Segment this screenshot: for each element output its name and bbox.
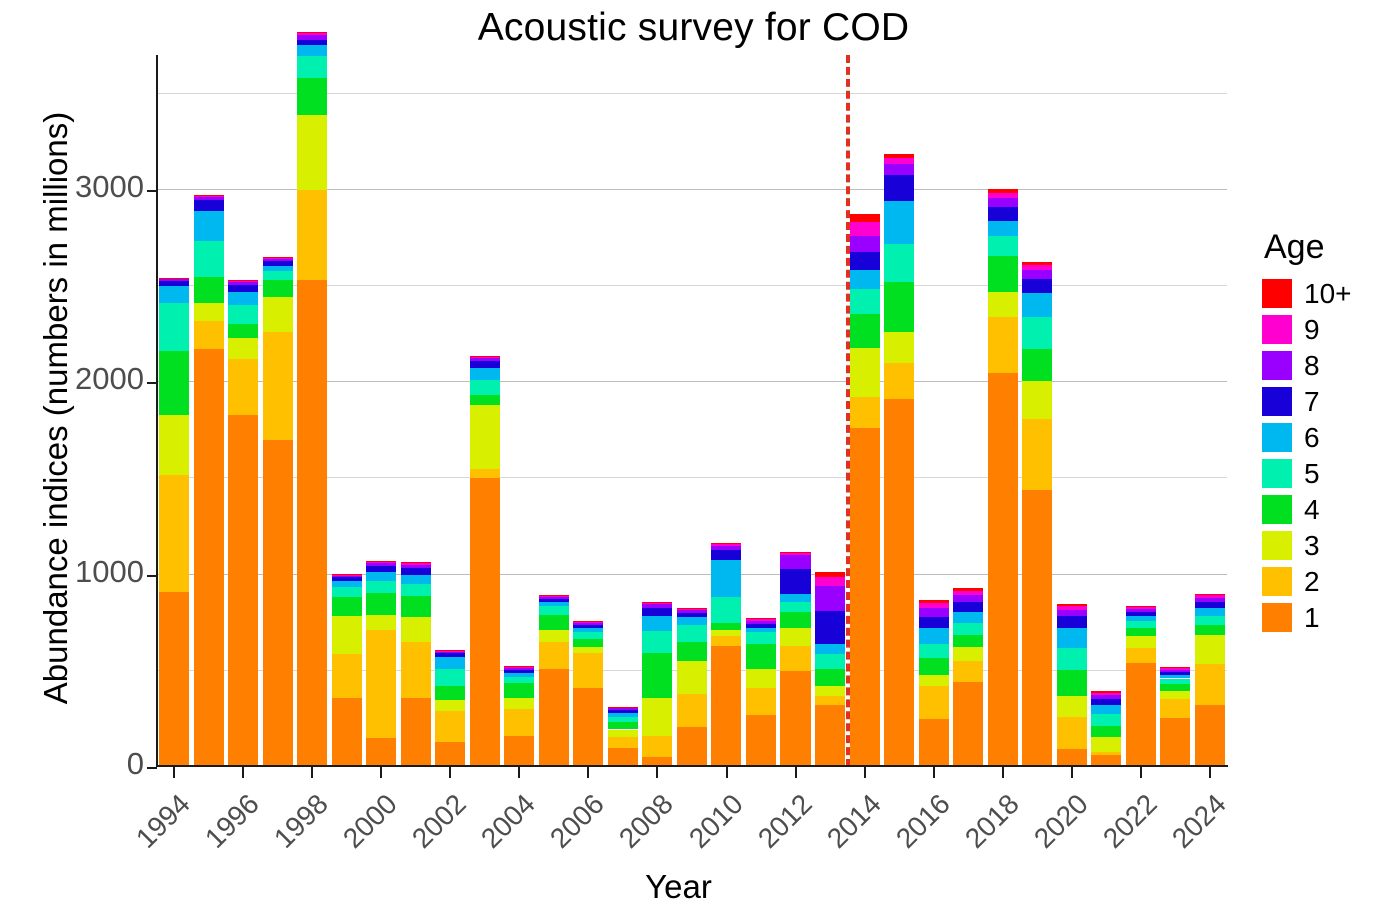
bar-segment-age-6 bbox=[884, 201, 914, 243]
bar-segment-age-8 bbox=[1195, 598, 1225, 602]
bar-segment-age-6 bbox=[919, 628, 949, 643]
bar-segment-age-7 bbox=[1195, 602, 1225, 609]
bar-segment-age-4 bbox=[228, 324, 258, 337]
bar-1997[interactable] bbox=[263, 257, 293, 767]
bar-segment-age-7 bbox=[263, 261, 293, 266]
bar-segment-age-1 bbox=[401, 698, 431, 767]
legend-item-label: 9 bbox=[1304, 316, 1320, 344]
bar-segment-age-3 bbox=[711, 630, 741, 636]
legend-item-label: 1 bbox=[1304, 604, 1320, 632]
bar-segment-age-6 bbox=[1195, 608, 1225, 616]
bar-segment-age-2 bbox=[1126, 648, 1156, 663]
bar-segment-age-3 bbox=[677, 661, 707, 694]
bar-segment-age-5 bbox=[953, 623, 983, 636]
bar-segment-age-9 bbox=[159, 278, 189, 279]
bar-segment-age-8 bbox=[711, 546, 741, 550]
bar-segment-age-9 bbox=[815, 577, 845, 587]
bar-segment-age-6 bbox=[332, 581, 362, 587]
bar-segment-age-2 bbox=[711, 636, 741, 646]
bar-segment-age-7 bbox=[539, 599, 569, 602]
bar-segment-age-10+ bbox=[504, 666, 534, 667]
bar-segment-age-10+ bbox=[988, 189, 1018, 193]
bar-2013[interactable] bbox=[815, 572, 845, 767]
bar-2009[interactable] bbox=[677, 608, 707, 767]
bar-segment-age-10+ bbox=[1091, 691, 1121, 693]
bar-2006[interactable] bbox=[573, 621, 603, 767]
bar-segment-age-4 bbox=[435, 686, 465, 699]
legend-item-age-3[interactable]: 3 bbox=[1262, 529, 1382, 562]
bar-segment-age-5 bbox=[919, 644, 949, 658]
bar-segment-age-2 bbox=[1057, 717, 1087, 749]
bar-segment-age-6 bbox=[435, 657, 465, 669]
bar-segment-age-6 bbox=[642, 616, 672, 631]
bar-segment-age-8 bbox=[815, 586, 845, 611]
bar-segment-age-10+ bbox=[401, 562, 431, 563]
bar-segment-age-6 bbox=[780, 594, 810, 603]
legend-item-label: 2 bbox=[1304, 568, 1320, 596]
legend-swatch-icon bbox=[1262, 351, 1292, 380]
bar-segment-age-4 bbox=[263, 280, 293, 297]
legend-title: Age bbox=[1264, 228, 1382, 267]
bar-segment-age-3 bbox=[1057, 696, 1087, 717]
bar-segment-age-9 bbox=[1195, 595, 1225, 597]
bar-segment-age-8 bbox=[988, 198, 1018, 207]
bar-segment-age-1 bbox=[228, 415, 258, 767]
bar-segment-age-9 bbox=[988, 193, 1018, 199]
x-tick-mark bbox=[173, 767, 175, 778]
x-tick-mark bbox=[933, 767, 935, 778]
bar-segment-age-7 bbox=[746, 624, 776, 628]
bar-segment-age-6 bbox=[573, 628, 603, 633]
bar-segment-age-7 bbox=[159, 281, 189, 286]
bar-segment-age-7 bbox=[435, 653, 465, 657]
bar-segment-age-10+ bbox=[642, 602, 672, 603]
bar-segment-age-1 bbox=[780, 671, 810, 767]
bar-2012[interactable] bbox=[780, 552, 810, 767]
bar-segment-age-7 bbox=[504, 670, 534, 673]
bar-segment-age-8 bbox=[953, 595, 983, 602]
bar-segment-age-2 bbox=[1091, 752, 1121, 756]
bar-segment-age-3 bbox=[850, 348, 880, 396]
bar-segment-age-4 bbox=[539, 615, 569, 630]
legend-swatch-icon bbox=[1262, 459, 1292, 488]
x-tick-mark bbox=[518, 767, 520, 778]
bar-segment-age-9 bbox=[1022, 265, 1052, 270]
bar-segment-age-5 bbox=[539, 606, 569, 615]
bar-2000[interactable] bbox=[366, 561, 396, 767]
bar-2022[interactable] bbox=[1126, 606, 1156, 767]
bar-2019[interactable] bbox=[1022, 262, 1052, 767]
y-axis-line bbox=[156, 55, 158, 767]
bar-segment-age-5 bbox=[677, 625, 707, 642]
bar-segment-age-9 bbox=[435, 651, 465, 652]
bar-segment-age-9 bbox=[677, 609, 707, 611]
bar-segment-age-4 bbox=[504, 683, 534, 697]
legend-item-age-9[interactable]: 9 bbox=[1262, 313, 1382, 346]
bar-segment-age-8 bbox=[194, 197, 224, 200]
bar-2011[interactable] bbox=[746, 618, 776, 767]
bar-segment-age-4 bbox=[1195, 625, 1225, 636]
bar-segment-age-10+ bbox=[1160, 667, 1190, 668]
bar-segment-age-6 bbox=[815, 644, 845, 655]
bar-segment-age-5 bbox=[504, 677, 534, 684]
bar-segment-age-8 bbox=[263, 259, 293, 261]
bar-segment-age-8 bbox=[401, 565, 431, 568]
bar-segment-age-2 bbox=[573, 653, 603, 688]
legend: Age 10+987654321 bbox=[1262, 228, 1382, 637]
x-tick-mark bbox=[449, 767, 451, 778]
bar-segment-age-7 bbox=[953, 602, 983, 613]
bar-2016[interactable] bbox=[919, 600, 949, 767]
bar-segment-age-7 bbox=[1091, 699, 1121, 706]
bar-segment-age-1 bbox=[1126, 663, 1156, 767]
bar-segment-age-4 bbox=[297, 78, 327, 115]
bar-segment-age-2 bbox=[194, 321, 224, 350]
bar-segment-age-2 bbox=[159, 475, 189, 592]
bar-segment-age-5 bbox=[642, 631, 672, 652]
bar-segment-age-3 bbox=[1022, 381, 1052, 419]
bar-segment-age-5 bbox=[1160, 679, 1190, 685]
bar-segment-age-5 bbox=[1091, 714, 1121, 726]
bar-segment-age-6 bbox=[228, 292, 258, 305]
bar-2017[interactable] bbox=[953, 588, 983, 767]
bar-segment-age-7 bbox=[988, 207, 1018, 220]
bar-segment-age-2 bbox=[988, 317, 1018, 373]
bar-segment-age-1 bbox=[539, 669, 569, 767]
legend-item-age-6[interactable]: 6 bbox=[1262, 421, 1382, 454]
bar-segment-age-7 bbox=[573, 625, 603, 628]
bar-segment-age-7 bbox=[1126, 612, 1156, 616]
y-tick-mark bbox=[147, 575, 157, 577]
bar-segment-age-6 bbox=[608, 713, 638, 717]
bar-segment-age-2 bbox=[401, 642, 431, 698]
legend-item-label: 10+ bbox=[1304, 280, 1352, 308]
bar-segment-age-1 bbox=[677, 727, 707, 767]
bar-segment-age-8 bbox=[1160, 670, 1190, 672]
bar-segment-age-4 bbox=[988, 256, 1018, 292]
legend-item-label: 6 bbox=[1304, 424, 1320, 452]
bar-segment-age-2 bbox=[470, 469, 500, 479]
legend-item-age-4[interactable]: 4 bbox=[1262, 493, 1382, 526]
bar-segment-age-5 bbox=[1126, 621, 1156, 628]
x-tick-mark bbox=[587, 767, 589, 778]
bar-segment-age-5 bbox=[263, 271, 293, 281]
y-tick-label: 0 bbox=[127, 746, 144, 782]
bar-segment-age-9 bbox=[850, 222, 880, 235]
bar-2002[interactable] bbox=[435, 650, 465, 767]
legend-item-age-7[interactable]: 7 bbox=[1262, 385, 1382, 418]
bar-segment-age-10+ bbox=[746, 618, 776, 619]
bar-segment-age-3 bbox=[228, 338, 258, 359]
bar-segment-age-6 bbox=[1160, 675, 1190, 679]
bar-segment-age-8 bbox=[470, 358, 500, 361]
bar-segment-age-5 bbox=[884, 244, 914, 282]
bar-segment-age-2 bbox=[884, 363, 914, 400]
bar-2003[interactable] bbox=[470, 356, 500, 767]
bar-segment-age-9 bbox=[573, 622, 603, 623]
x-tick-mark bbox=[1002, 767, 1004, 778]
legend-swatch-icon bbox=[1262, 279, 1292, 308]
bar-segment-age-9 bbox=[470, 357, 500, 359]
y-tick-label: 2000 bbox=[75, 361, 144, 397]
bar-1999[interactable] bbox=[332, 574, 362, 767]
bar-segment-age-4 bbox=[1160, 684, 1190, 691]
bar-segment-age-9 bbox=[780, 553, 810, 555]
bar-segment-age-1 bbox=[435, 742, 465, 767]
bar-segment-age-8 bbox=[677, 610, 707, 613]
bar-segment-age-9 bbox=[953, 591, 983, 595]
bar-2005[interactable] bbox=[539, 595, 569, 767]
bar-segment-age-7 bbox=[1160, 672, 1190, 675]
bar-segment-age-6 bbox=[1126, 616, 1156, 621]
bar-segment-age-1 bbox=[573, 688, 603, 767]
bar-segment-age-3 bbox=[1195, 635, 1225, 664]
bar-1995[interactable] bbox=[194, 195, 224, 767]
legend-item-label: 8 bbox=[1304, 352, 1320, 380]
bar-2018[interactable] bbox=[988, 189, 1018, 767]
bar-segment-age-10+ bbox=[780, 552, 810, 553]
x-tick-mark bbox=[864, 767, 866, 778]
bar-segment-age-6 bbox=[366, 572, 396, 582]
bar-segment-age-3 bbox=[539, 630, 569, 642]
bar-segment-age-1 bbox=[263, 440, 293, 767]
bar-segment-age-3 bbox=[159, 415, 189, 475]
bar-segment-age-4 bbox=[159, 351, 189, 415]
bar-segment-age-3 bbox=[470, 405, 500, 469]
bar-segment-age-6 bbox=[677, 617, 707, 625]
bar-segment-age-7 bbox=[366, 566, 396, 572]
bar-segment-age-3 bbox=[401, 617, 431, 642]
bar-segment-age-5 bbox=[988, 236, 1018, 256]
bar-segment-age-8 bbox=[608, 708, 638, 710]
bar-2023[interactable] bbox=[1160, 667, 1190, 767]
bar-segment-age-9 bbox=[608, 707, 638, 708]
bar-segment-age-10+ bbox=[1195, 594, 1225, 596]
reference-vline bbox=[846, 55, 850, 767]
legend-swatch-icon bbox=[1262, 531, 1292, 560]
bar-segment-age-7 bbox=[677, 613, 707, 617]
bar-segment-age-10+ bbox=[884, 154, 914, 158]
bar-segment-age-7 bbox=[711, 550, 741, 561]
bar-segment-age-9 bbox=[1126, 607, 1156, 609]
bar-segment-age-5 bbox=[608, 717, 638, 722]
bar-segment-age-1 bbox=[746, 715, 776, 767]
bar-segment-age-9 bbox=[746, 619, 776, 621]
x-tick-mark bbox=[242, 767, 244, 778]
bar-segment-age-3 bbox=[746, 669, 776, 688]
bar-segment-age-2 bbox=[1022, 419, 1052, 490]
bar-segment-age-9 bbox=[366, 562, 396, 564]
x-axis-line bbox=[156, 765, 1228, 767]
bar-segment-age-10+ bbox=[608, 707, 638, 708]
bar-segment-age-1 bbox=[919, 719, 949, 767]
bar-2015[interactable] bbox=[884, 154, 914, 767]
bar-segment-age-2 bbox=[228, 359, 258, 415]
bar-segment-age-8 bbox=[1091, 695, 1121, 699]
bar-segment-age-4 bbox=[780, 612, 810, 628]
bar-segment-age-1 bbox=[297, 280, 327, 767]
bar-segment-age-1 bbox=[194, 349, 224, 767]
bar-segment-age-10+ bbox=[159, 278, 189, 279]
bar-segment-age-1 bbox=[1195, 705, 1225, 767]
bar-2004[interactable] bbox=[504, 666, 534, 767]
legend-item-age-8[interactable]: 8 bbox=[1262, 349, 1382, 382]
bar-segment-age-6 bbox=[746, 628, 776, 633]
bar-2008[interactable] bbox=[642, 602, 672, 767]
bar-segment-age-10+ bbox=[815, 572, 845, 577]
bar-segment-age-2 bbox=[332, 654, 362, 697]
bar-segment-age-2 bbox=[1160, 699, 1190, 718]
bar-segment-age-2 bbox=[850, 397, 880, 429]
bar-segment-age-4 bbox=[711, 623, 741, 631]
bar-2010[interactable] bbox=[711, 543, 741, 767]
bar-segment-age-3 bbox=[435, 700, 465, 712]
bar-segment-age-4 bbox=[1022, 349, 1052, 381]
bar-segment-age-4 bbox=[850, 314, 880, 349]
bar-segment-age-6 bbox=[988, 221, 1018, 236]
bar-segment-age-8 bbox=[228, 282, 258, 285]
bar-2007[interactable] bbox=[608, 707, 638, 767]
bar-segment-age-6 bbox=[194, 211, 224, 241]
x-tick-mark bbox=[311, 767, 313, 778]
bar-1998[interactable] bbox=[297, 32, 327, 767]
bar-segment-age-4 bbox=[573, 639, 603, 647]
legend-item-age-10+[interactable]: 10+ bbox=[1262, 277, 1382, 310]
bar-segment-age-5 bbox=[711, 597, 741, 623]
bar-segment-age-7 bbox=[470, 361, 500, 368]
legend-item-label: 4 bbox=[1304, 496, 1320, 524]
bar-segment-age-7 bbox=[642, 608, 672, 616]
bar-segment-age-4 bbox=[746, 644, 776, 669]
bar-segment-age-8 bbox=[573, 623, 603, 625]
bar-segment-age-3 bbox=[780, 628, 810, 645]
y-axis-label: Abundance indices (numbers in millions) bbox=[37, 58, 75, 758]
bar-segment-age-1 bbox=[953, 682, 983, 767]
bar-segment-age-9 bbox=[642, 602, 672, 604]
legend-swatch-icon bbox=[1262, 495, 1292, 524]
bar-segment-age-9 bbox=[332, 575, 362, 576]
bar-segment-age-8 bbox=[919, 608, 949, 617]
bar-segment-age-10+ bbox=[194, 195, 224, 196]
bar-1996[interactable] bbox=[228, 280, 258, 767]
bar-1994[interactable] bbox=[159, 278, 189, 767]
bar-segment-age-10+ bbox=[366, 561, 396, 562]
bar-segment-age-8 bbox=[539, 597, 569, 599]
bar-segment-age-1 bbox=[504, 736, 534, 767]
legend-item-age-2[interactable]: 2 bbox=[1262, 565, 1382, 598]
bar-segment-age-10+ bbox=[263, 257, 293, 258]
bar-2001[interactable] bbox=[401, 562, 431, 767]
bar-segment-age-5 bbox=[1057, 648, 1087, 670]
bar-segment-age-9 bbox=[1160, 668, 1190, 670]
bar-segment-age-4 bbox=[194, 277, 224, 303]
bar-segment-age-9 bbox=[194, 196, 224, 198]
legend-item-age-5[interactable]: 5 bbox=[1262, 457, 1382, 490]
bar-segment-age-1 bbox=[332, 698, 362, 767]
bar-segment-age-8 bbox=[435, 652, 465, 654]
bar-segment-age-8 bbox=[504, 668, 534, 670]
bar-2014[interactable] bbox=[850, 214, 880, 767]
bar-segment-age-2 bbox=[677, 694, 707, 727]
bar-segment-age-7 bbox=[850, 252, 880, 269]
bar-segment-age-2 bbox=[815, 696, 845, 706]
bar-segment-age-7 bbox=[228, 285, 258, 292]
bar-segment-age-6 bbox=[504, 673, 534, 677]
legend-item-age-1[interactable]: 1 bbox=[1262, 601, 1382, 634]
bar-segment-age-3 bbox=[1091, 737, 1121, 751]
bar-segment-age-5 bbox=[850, 289, 880, 314]
bar-segment-age-5 bbox=[401, 584, 431, 596]
bar-segment-age-8 bbox=[297, 35, 327, 40]
bar-segment-age-4 bbox=[470, 395, 500, 406]
bar-segment-age-10+ bbox=[228, 280, 258, 281]
bar-segment-age-2 bbox=[746, 688, 776, 715]
bar-segment-age-1 bbox=[1160, 718, 1190, 767]
bar-segment-age-8 bbox=[1126, 609, 1156, 612]
bar-segment-age-1 bbox=[159, 592, 189, 767]
y-tick-label: 1000 bbox=[75, 554, 144, 590]
bar-segment-age-2 bbox=[1195, 664, 1225, 705]
bar-segment-age-1 bbox=[884, 399, 914, 767]
bar-segment-age-7 bbox=[884, 175, 914, 201]
legend-item-label: 5 bbox=[1304, 460, 1320, 488]
bar-segment-age-3 bbox=[884, 332, 914, 363]
bar-segment-age-7 bbox=[815, 611, 845, 644]
bar-segment-age-6 bbox=[1091, 705, 1121, 714]
bar-segment-age-7 bbox=[1057, 616, 1087, 628]
bar-segment-age-3 bbox=[919, 675, 949, 687]
bar-2024[interactable] bbox=[1195, 594, 1225, 767]
bar-segment-age-7 bbox=[919, 617, 949, 629]
bar-2020[interactable] bbox=[1057, 604, 1087, 767]
bar-segment-age-6 bbox=[1022, 293, 1052, 317]
bar-segment-age-8 bbox=[780, 555, 810, 568]
bar-segment-age-3 bbox=[573, 647, 603, 654]
bar-segment-age-8 bbox=[159, 279, 189, 281]
bar-segment-age-3 bbox=[988, 292, 1018, 317]
x-tick-mark bbox=[1071, 767, 1073, 778]
bar-segment-age-4 bbox=[1126, 628, 1156, 637]
bar-segment-age-3 bbox=[504, 698, 534, 710]
bar-segment-age-5 bbox=[435, 669, 465, 686]
bar-segment-age-3 bbox=[263, 297, 293, 332]
bar-segment-age-5 bbox=[815, 654, 845, 668]
bar-segment-age-2 bbox=[366, 630, 396, 738]
bar-segment-age-3 bbox=[1160, 691, 1190, 699]
bar-segment-age-5 bbox=[332, 587, 362, 597]
bar-segment-age-10+ bbox=[919, 600, 949, 603]
bar-segment-age-8 bbox=[850, 236, 880, 252]
bar-segment-age-8 bbox=[1022, 270, 1052, 280]
bar-segment-age-2 bbox=[953, 661, 983, 682]
bar-segment-age-2 bbox=[435, 711, 465, 742]
bar-segment-age-8 bbox=[746, 621, 776, 624]
x-tick-mark bbox=[726, 767, 728, 778]
chart-root: Acoustic survey for COD Abundance indice… bbox=[0, 0, 1387, 924]
legend-item-label: 7 bbox=[1304, 388, 1320, 416]
bar-segment-age-8 bbox=[332, 576, 362, 578]
x-tick-mark bbox=[1140, 767, 1142, 778]
bar-segment-age-9 bbox=[504, 667, 534, 668]
bar-2021[interactable] bbox=[1091, 691, 1121, 767]
bar-segment-age-2 bbox=[608, 737, 638, 748]
bar-segment-age-3 bbox=[194, 303, 224, 320]
bar-segment-age-10+ bbox=[539, 595, 569, 596]
bar-segment-age-9 bbox=[884, 158, 914, 164]
y-tick-mark bbox=[147, 382, 157, 384]
bar-segment-age-9 bbox=[1057, 606, 1087, 610]
bar-segment-age-1 bbox=[815, 705, 845, 767]
